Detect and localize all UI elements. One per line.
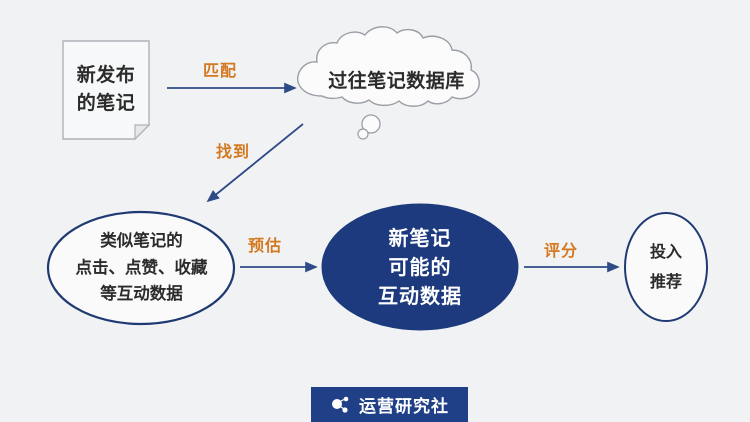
new-note-line-2: 的笔记: [77, 90, 136, 118]
new-note-document: 新发布 的笔记: [63, 41, 149, 139]
brand-logo-text: 运营研究社: [359, 392, 449, 417]
diagram-canvas: 新发布 的笔记 过往笔记数据库 类似笔记的 点击、点赞、收藏 等互动数据 新笔记…: [0, 0, 750, 422]
edge-label-found: 找到: [216, 138, 250, 162]
predicted-line-2: 可能的: [389, 253, 452, 282]
recommend-ellipse: 投入 推荐: [625, 213, 707, 321]
new-note-line-1: 新发布: [77, 62, 136, 90]
edge-label-match: 匹配: [203, 57, 237, 81]
predicted-line-1: 新笔记: [389, 224, 452, 253]
recommend-line-1: 投入: [650, 237, 682, 267]
predicted-engagement-ellipse: 新笔记 可能的 互动数据: [322, 204, 518, 330]
similar-notes-line-1: 类似笔记的: [100, 228, 183, 254]
similar-notes-ellipse: 类似笔记的 点击、点赞、收藏 等互动数据: [48, 212, 235, 324]
edge-label-estimate: 预估: [248, 232, 282, 256]
molecule-nodes-icon: [330, 395, 352, 415]
similar-notes-line-2: 点击、点赞、收藏: [76, 255, 208, 281]
similar-notes-line-3: 等互动数据: [100, 281, 183, 307]
predicted-line-3: 互动数据: [378, 282, 462, 311]
recommend-line-2: 推荐: [650, 267, 682, 297]
connector-found-arrow: [208, 124, 303, 201]
brand-logo-bar: 运营研究社: [311, 387, 468, 422]
history-database-cloud: 过往笔记数据库: [304, 44, 489, 114]
history-database-label: 过往笔记数据库: [328, 66, 465, 93]
edge-label-score: 评分: [544, 237, 578, 261]
